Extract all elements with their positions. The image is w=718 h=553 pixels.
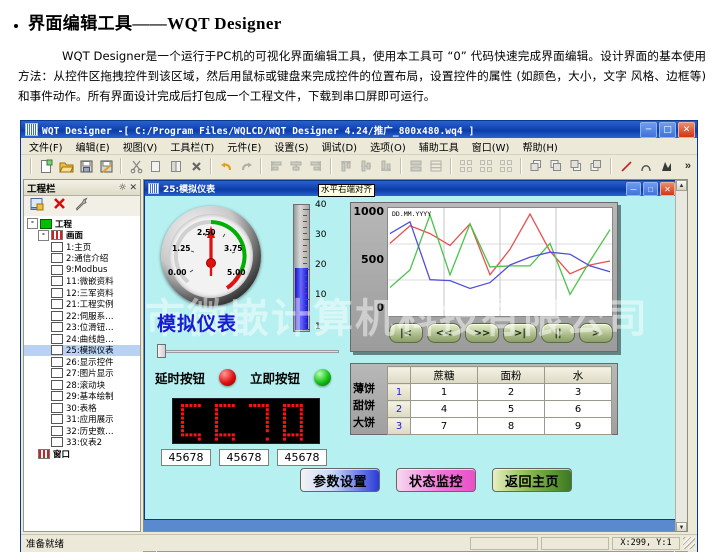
tree-item[interactable]: 33:仪表2 (24, 437, 140, 449)
project-panel-header: 工程栏 ☼ ✕ (24, 180, 140, 196)
space-even-h-icon (457, 157, 475, 175)
page-icon (51, 288, 63, 298)
vbar-tick-10: 10 (315, 290, 326, 300)
chart-nav-next-button[interactable]: >> (465, 323, 499, 343)
menu-file[interactable]: 文件(F) (29, 139, 63, 154)
page-icon (51, 437, 63, 447)
tree-item-label: 26:显示控件 (66, 356, 114, 368)
chart-series-lines (388, 208, 612, 316)
save-all-icon[interactable] (97, 157, 115, 175)
parameter-settings-button[interactable]: 参数设置 (300, 468, 380, 492)
tree-item[interactable]: 27:图片显示 (24, 368, 140, 380)
chart-y-axis: 1000 500 0 (354, 205, 384, 321)
tree-item-label: 30:表格 (66, 402, 97, 414)
mdi-child-titlebar[interactable]: 25:模拟仪表 ─ □ ✕ (145, 181, 677, 196)
send-back-icon[interactable] (547, 157, 565, 175)
tree-item-label: 1:主页 (66, 241, 91, 253)
tree-item[interactable]: 32:历史数… (24, 425, 140, 437)
tree-item-label: 画面 (66, 229, 83, 241)
align-bottom-icon (377, 157, 395, 175)
mdi-child-title: 25:模拟仪表 (163, 182, 215, 195)
table-row-label-1: 薄饼 (353, 380, 387, 397)
tree-item-label: 21:工程实例 (66, 298, 114, 310)
instant-button-label: 立即按钮 (250, 368, 300, 387)
menu-settings[interactable]: 设置(S) (274, 139, 308, 154)
tree-item[interactable]: 1:主页 (24, 241, 140, 253)
table-cell[interactable]: 3 (545, 384, 612, 401)
window-controls: ─ □ ✕ (640, 122, 695, 138)
mdi-child-window: 25:模拟仪表 ─ □ ✕ 水平右端对齐 市微嵌计算机科技有限公司 (144, 180, 678, 520)
vertical-bar-scale: 40 30 20 10 1 (315, 200, 341, 336)
tree-item-label: 12:三军资料 (66, 287, 114, 299)
backward-one-icon[interactable] (587, 157, 605, 175)
table-row-number-1: 1 (388, 384, 411, 401)
tree-item-label: 28:滚动块 (66, 379, 105, 391)
page-icon (51, 426, 63, 436)
tree-item[interactable]: 窗口 (24, 448, 140, 460)
tree-item[interactable]: 24:曲线趋… (24, 333, 140, 345)
same-width-icon (407, 157, 425, 175)
screen-icon (38, 449, 50, 459)
chart-plot-area: DD.MM.YYYY (387, 207, 613, 317)
bullet-icon (14, 24, 18, 28)
menu-options[interactable]: 选项(O) (370, 139, 406, 154)
status-cell-2 (541, 537, 609, 550)
project-tree[interactable]: -工程-画面1:主页2:通信介绍9:Modbus11:微嵌资料12:三军资料21… (24, 216, 140, 531)
workspace-vertical-scrollbar[interactable]: ▲ ▼ (675, 180, 687, 532)
application-icon (25, 123, 38, 136)
project-icon (40, 219, 52, 229)
table-cell[interactable]: 9 (545, 418, 612, 435)
delete-icon[interactable] (187, 157, 205, 175)
document-paragraph: WQT Designer是一个运行于PC机的可视化界面编辑工具，使用本工具可 “… (18, 46, 706, 106)
horizontal-slider-widget[interactable] (157, 344, 339, 358)
toolbar-separator (210, 158, 212, 174)
project-panel: 工程栏 ☼ ✕ -工程-画面1:主页2:通信介绍9:Modbus11:微嵌资料1… (23, 179, 141, 532)
tree-item[interactable]: 28:滚动块 (24, 379, 140, 391)
cut-icon[interactable] (127, 157, 145, 175)
toolbar-separator (400, 158, 402, 174)
project-panel-title: 工程栏 (27, 181, 115, 195)
tree-item[interactable]: 23:位滑钮… (24, 322, 140, 334)
project-panel-toolbar (24, 196, 140, 217)
vbar-tick-1: 1 (315, 322, 321, 332)
tree-item-label: 31:应用展示 (66, 413, 114, 425)
mdi-minimize-button[interactable]: ─ (626, 182, 641, 196)
menu-edit[interactable]: 编辑(E) (76, 139, 110, 154)
status-bar: 准备就绪 X:299, Y:1 (21, 534, 697, 551)
tree-item[interactable]: 11:微嵌资料 (24, 276, 140, 288)
led-digits (173, 399, 317, 441)
chart-ytick-500: 500 (361, 253, 384, 266)
tree-item[interactable]: 22:伺服系… (24, 310, 140, 322)
toolbar-separator (450, 158, 452, 174)
status-monitor-button[interactable]: 状态监控 (396, 468, 476, 492)
screen-icon (51, 230, 63, 240)
table-row-label-2: 甜饼 (353, 397, 387, 414)
paragraph-text: WQT Designer是一个运行于PC机的可视化界面编辑工具，使用本工具可 “… (18, 49, 706, 103)
save-icon[interactable] (77, 157, 95, 175)
gauge-graphics (161, 206, 261, 306)
redo-icon[interactable] (237, 157, 255, 175)
line-tool-icon[interactable] (617, 157, 635, 175)
table-col-header-1: 蔗糖 (411, 367, 478, 384)
gauge-tick-3: 3.75 (224, 244, 243, 253)
client-area: 工程栏 ☼ ✕ -工程-画面1:主页2:通信介绍9:Modbus11:微嵌资料1… (21, 177, 697, 552)
document-header: 界面编辑工具——WQT Designer WQT Designer是一个运行于P… (0, 0, 718, 118)
vbar-tick-30: 30 (315, 230, 326, 240)
application-window: WQT Designer -[ C:/Program Files/WQLCD/W… (20, 120, 698, 552)
align-middle-v-icon (357, 157, 375, 175)
mdi-child-controls: ─ □ ✕ (626, 182, 675, 196)
chart-nav-last-button[interactable]: >| (503, 323, 537, 343)
tree-item[interactable]: -画面 (24, 230, 140, 242)
tree-item-label: 33:仪表2 (66, 436, 102, 448)
chart-navigation-bar: |< << >> >| || > (389, 323, 613, 343)
tree-item[interactable]: 25:模拟仪表 (24, 345, 140, 357)
table-cell[interactable]: 6 (545, 401, 612, 418)
table-row: 3 7 8 9 (388, 418, 612, 435)
chart-nav-play-button[interactable]: > (579, 323, 613, 343)
minimize-button[interactable]: ─ (640, 122, 657, 138)
tree-item-label: 9:Modbus (66, 265, 107, 275)
table-row-label-column: 薄饼 甜饼 大饼 (353, 380, 387, 431)
table-row-number-2: 2 (388, 401, 411, 418)
menu-view[interactable]: 视图(V) (123, 139, 158, 154)
menu-toolbar[interactable]: 工具栏(T) (170, 139, 214, 154)
data-table-widget[interactable]: 薄饼 甜饼 大饼 蔗糖 面粉 水 1 (350, 363, 618, 435)
tree-item-label: 25:模拟仪表 (66, 344, 114, 356)
page-icon (51, 368, 63, 378)
tree-item-label: 27:图片显示 (66, 367, 114, 379)
close-button[interactable]: ✕ (678, 122, 695, 138)
page-icon (51, 380, 63, 390)
copy-icon[interactable] (147, 157, 165, 175)
toolbar-overflow-button[interactable]: » (685, 160, 691, 172)
menu-help[interactable]: 帮助(H) (522, 139, 557, 154)
tree-item[interactable]: 31:应用展示 (24, 414, 140, 426)
menu-tools[interactable]: 辅助工具 (419, 139, 459, 154)
table-corner-cell (388, 367, 411, 384)
tree-item[interactable]: 2:通信介绍 (24, 253, 140, 265)
new-file-icon[interactable] (37, 157, 55, 175)
table-cell[interactable]: 1 (411, 384, 478, 401)
tree-item[interactable]: 12:三军资料 (24, 287, 140, 299)
tooltip: 水平右端对齐 (318, 184, 375, 197)
page-icon (51, 242, 63, 252)
main-toolbar: » (21, 155, 697, 178)
tree-item-label: 32:历史数… (66, 425, 114, 437)
page-icon (51, 334, 63, 344)
tree-item[interactable]: 9:Modbus (24, 264, 140, 276)
table-col-header-3: 水 (545, 367, 612, 384)
trend-chart-widget[interactable]: 1000 500 0 DD.MM.YYYY |< << >> >| (350, 202, 618, 352)
table-col-header-2: 面粉 (478, 367, 545, 384)
page-icon (51, 403, 63, 413)
page-icon (51, 253, 63, 263)
mdi-close-button[interactable]: ✕ (660, 182, 675, 196)
tree-item-label: 窗口 (53, 448, 70, 460)
heading-row: 界面编辑工具——WQT Designer (14, 9, 282, 34)
close-icon[interactable]: ✕ (129, 183, 137, 193)
tree-item[interactable]: 21:工程实例 (24, 299, 140, 311)
toolbar-separator (610, 158, 612, 174)
properties-wrench-icon[interactable] (74, 197, 89, 216)
toolbar-separator (520, 158, 522, 174)
tree-item-label: 2:通信介绍 (66, 252, 108, 264)
return-home-button[interactable]: 返回主页 (492, 468, 572, 492)
instant-lamp-icon[interactable] (314, 369, 331, 386)
menu-debug[interactable]: 调试(D) (322, 139, 358, 154)
delay-lamp-icon[interactable] (219, 369, 236, 386)
tree-item-label: 工程 (55, 218, 72, 230)
space-even-v-icon (477, 157, 495, 175)
value-box-2[interactable]: 45678 (219, 449, 269, 466)
page-icon (51, 322, 63, 332)
chart-nav-prev-button[interactable]: << (427, 323, 461, 343)
paste-icon[interactable] (167, 157, 185, 175)
chart-nav-pause-button[interactable]: || (541, 323, 575, 343)
tree-item-label: 11:微嵌资料 (66, 275, 114, 287)
design-canvas[interactable]: 市微嵌计算机科技有限公司 (145, 196, 677, 519)
vbar-tick-40: 40 (315, 200, 326, 210)
arc-tool-icon[interactable] (637, 157, 655, 175)
undo-icon[interactable] (217, 157, 235, 175)
chart-date-annotation: DD.MM.YYYY (392, 210, 431, 218)
gauge-tick-4: 5.00 (227, 268, 246, 277)
value-box-1[interactable]: 45678 (161, 449, 211, 466)
table-row: 1 1 2 3 (388, 384, 612, 401)
tree-item[interactable]: -工程 (24, 218, 140, 230)
toolbar-separator (330, 158, 332, 174)
value-box-3[interactable]: 45678 (277, 449, 327, 466)
cursor-coordinates: X:299, Y:1 (612, 537, 680, 550)
tree-item-label: 24:曲线趋… (66, 333, 114, 345)
chart-nav-first-button[interactable]: |< (389, 323, 423, 343)
menu-bar: 文件(F) 编辑(E) 视图(V) 工具栏(T) 元件(E) 设置(S) 调试(… (21, 138, 697, 155)
table-grid[interactable]: 蔗糖 面粉 水 1 1 2 3 2 (387, 366, 612, 435)
align-center-h-icon (287, 157, 305, 175)
table-row-label-3: 大饼 (353, 414, 387, 431)
tree-toggle-icon[interactable]: - (38, 230, 49, 241)
page-icon (51, 276, 63, 286)
page-icon (51, 345, 63, 355)
mdi-workspace: 25:模拟仪表 ─ □ ✕ 水平右端对齐 市微嵌计算机科技有限公司 (143, 179, 688, 532)
lamp-row: 延时按钮 立即按钮 (155, 368, 345, 387)
analog-gauge-widget[interactable]: 0.00 1.25 2.50 3.75 5.00 (161, 206, 261, 306)
window-title: WQT Designer -[ C:/Program Files/WQLCD/W… (42, 123, 474, 137)
tree-toggle-icon[interactable]: - (27, 218, 38, 229)
led-numeric-display[interactable] (172, 398, 320, 444)
add-screen-icon[interactable] (30, 197, 45, 216)
slider-track (163, 350, 339, 353)
scroll-down-arrow-icon[interactable]: ▼ (676, 522, 687, 532)
table-cell[interactable]: 7 (411, 418, 478, 435)
bring-front-icon[interactable] (527, 157, 545, 175)
gauge-label: 模拟仪表 (157, 309, 237, 336)
gauge-tick-0: 0.00 (168, 268, 187, 277)
chart-ytick-0: 0 (376, 301, 384, 314)
polygon-tool-icon[interactable] (657, 157, 675, 175)
toolbar-separator (260, 158, 262, 174)
same-height-icon (427, 157, 445, 175)
vbar-tick-20: 20 (315, 260, 326, 270)
align-top-icon (337, 157, 355, 175)
tree-item[interactable]: 30:表格 (24, 402, 140, 414)
table-cell[interactable]: 8 (478, 418, 545, 435)
page-title: 界面编辑工具——WQT Designer (28, 9, 282, 34)
vertical-bar-widget[interactable] (293, 204, 310, 332)
size-equal-icon (497, 157, 515, 175)
delete-icon[interactable] (53, 197, 66, 215)
table-cell[interactable]: 4 (411, 401, 478, 418)
tree-item-label: 29:基本绘制 (66, 390, 114, 402)
gauge-tick-2: 2.50 (197, 228, 216, 237)
tree-item[interactable]: 26:显示控件 (24, 356, 140, 368)
vertical-bar-ticks (294, 205, 311, 333)
page-icon (51, 414, 63, 424)
tree-item-label: 22:伺服系… (66, 310, 114, 322)
status-cell-1 (470, 537, 538, 550)
toolbar-separator (120, 158, 122, 174)
page-icon (51, 391, 63, 401)
menu-element[interactable]: 元件(E) (227, 139, 261, 154)
table-cell[interactable]: 5 (478, 401, 545, 418)
chart-ytick-1000: 1000 (353, 205, 384, 218)
float-icon[interactable]: ☼ (118, 183, 126, 193)
menu-window[interactable]: 窗口(W) (472, 139, 510, 154)
page-icon (51, 299, 63, 309)
align-right-icon (307, 157, 325, 175)
maximize-button[interactable]: □ (659, 122, 676, 138)
toolbar-separator (30, 158, 32, 174)
slider-thumb[interactable] (157, 344, 166, 358)
status-message: 准备就绪 (21, 536, 470, 550)
resize-grip-icon[interactable] (683, 537, 695, 549)
screen-document-icon (148, 183, 159, 194)
forward-one-icon[interactable] (567, 157, 585, 175)
open-folder-icon[interactable] (57, 157, 75, 175)
action-button-row: 参数设置 状态监控 返回主页 (300, 468, 572, 492)
scroll-up-arrow-icon[interactable]: ▲ (676, 180, 687, 191)
align-left-icon (267, 157, 285, 175)
table-header-row: 蔗糖 面粉 水 (388, 367, 612, 384)
tree-item-label: 23:位滑钮… (66, 321, 114, 333)
table-row-number-3: 3 (388, 418, 411, 435)
page-icon (51, 265, 63, 275)
page-icon (51, 357, 63, 367)
tree-item[interactable]: 29:基本绘制 (24, 391, 140, 403)
mdi-maximize-button[interactable]: □ (643, 182, 658, 196)
delay-button-label: 延时按钮 (155, 368, 205, 387)
table-cell[interactable]: 2 (478, 384, 545, 401)
window-titlebar[interactable]: WQT Designer -[ C:/Program Files/WQLCD/W… (21, 121, 697, 138)
value-box-row: 45678 45678 45678 (161, 449, 327, 466)
table-row: 2 4 5 6 (388, 401, 612, 418)
page-icon (51, 311, 63, 321)
gauge-tick-1: 1.25 (172, 244, 191, 253)
